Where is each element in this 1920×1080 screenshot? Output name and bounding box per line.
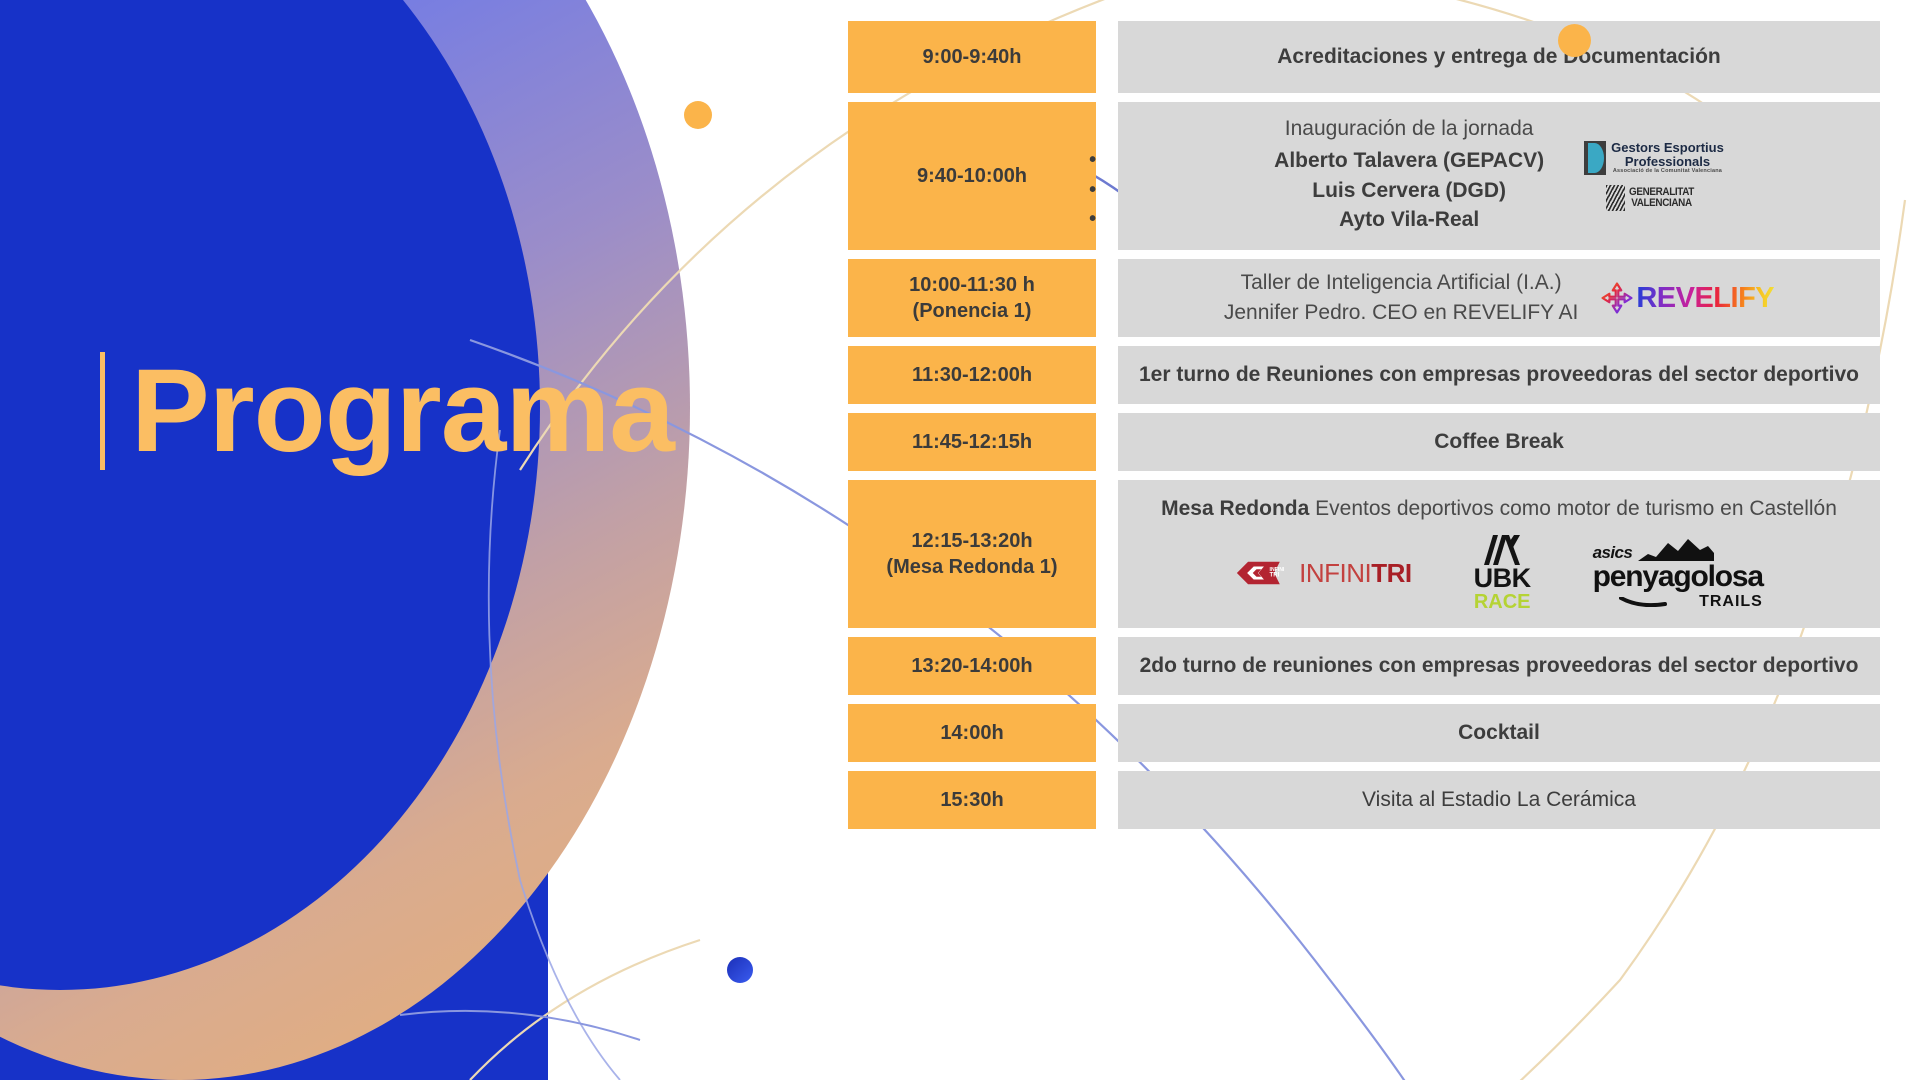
table-row[interactable]: 9:40-10:00h Inauguración de la jornada A…: [848, 102, 1880, 250]
speaker-list: Alberto Talavera (GEPACV) Luis Cervera (…: [1274, 146, 1544, 235]
gestors-esportius-professionals-logo: Gestors Esportius Professionals Associac…: [1584, 141, 1724, 175]
table-row[interactable]: 11:45-12:15h Coffee Break: [848, 413, 1880, 471]
revelify-wordmark: REVELIFY: [1636, 284, 1774, 313]
list-item: Alberto Talavera (GEPACV): [1274, 146, 1544, 176]
row-time-cell: 11:45-12:15h: [848, 413, 1096, 471]
orange-dot-upper-icon: [684, 101, 712, 129]
infinitri-mark-icon: INFINI TRI: [1235, 559, 1291, 587]
workshop-body: Taller de Inteligencia Artificial (I.A.)…: [1132, 268, 1866, 329]
blue-panel-with-ring: [0, 0, 690, 1080]
row-title: Taller de Inteligencia Artificial (I.A.): [1224, 268, 1578, 298]
sponsor-logos: INFINI TRI INFINITRI: [1235, 535, 1763, 612]
mountain-icon: [1638, 537, 1714, 561]
revelify-logo: REVELIFY: [1600, 281, 1774, 315]
row-time: 14:00h: [940, 720, 1003, 746]
generalitat-valenciana-logo: GENERALITAT VALENCIANA: [1606, 185, 1701, 211]
row-time-cell: 11:30-12:00h: [848, 346, 1096, 404]
ubk-line2: RACE: [1474, 592, 1531, 612]
infinitri-logo: INFINI TRI INFINITRI: [1235, 559, 1412, 587]
table-row[interactable]: 14:00h Cocktail: [848, 704, 1880, 762]
row-time-cell: 10:00-11:30 h (Ponencia 1): [848, 259, 1096, 337]
blue-panel: [0, 0, 548, 1080]
gradient-ring-outer: [0, 0, 690, 1080]
row-title: Visita al Estadio La Cerámica: [1362, 785, 1636, 814]
asics-penyagolosa-trails-logo: asics penyagolosa TRAILS: [1593, 537, 1763, 610]
gepacv-line2: Professionals: [1611, 155, 1724, 169]
generalitat-mark-icon: [1606, 185, 1625, 211]
infinitri-word-thin: INFINI: [1299, 558, 1371, 588]
page-title: Programa: [131, 352, 674, 470]
gepacv-line1: Gestors Esportius: [1611, 141, 1724, 155]
schedule-table: 9:00-9:40h Acreditaciones y entrega de D…: [848, 21, 1880, 838]
row-description-cell: Inauguración de la jornada Alberto Talav…: [1118, 102, 1880, 250]
row-subtitle: Jennifer Pedro. CEO en REVELIFY AI: [1224, 298, 1578, 328]
table-row[interactable]: 15:30h Visita al Estadio La Cerámica: [848, 771, 1880, 829]
inauguration-text: Inauguración de la jornada Alberto Talav…: [1274, 117, 1544, 235]
row-time: 9:00-9:40h: [923, 44, 1022, 70]
arc-cream-lowerleft-icon: [470, 940, 700, 1080]
row-title: Cocktail: [1458, 718, 1540, 747]
generalitat-line2: VALENCIANA: [1629, 198, 1694, 209]
row-time-note: (Ponencia 1): [913, 298, 1032, 324]
ubk-race-logo: UBK RACE: [1474, 535, 1531, 612]
organizer-logos: Gestors Esportius Professionals Associac…: [1584, 141, 1724, 211]
row-time-cell: 9:40-10:00h: [848, 102, 1096, 250]
penyagolosa-word: penyagolosa: [1593, 562, 1763, 592]
slide-canvas: Programa 9:00-9:40h Acreditaciones y ent…: [0, 0, 1920, 1080]
list-item: Luis Cervera (DGD): [1274, 176, 1544, 206]
table-row[interactable]: 10:00-11:30 h (Ponencia 1) Taller de Int…: [848, 259, 1880, 337]
gradient-ring-inner-mask: [0, 0, 540, 990]
ubk-mark-icon: [1480, 535, 1524, 565]
row-title: Inauguración de la jornada: [1274, 117, 1544, 141]
row-description-cell: 1er turno de Reuniones con empresas prov…: [1118, 346, 1880, 404]
roundtable-topic: Eventos deportivos como motor de turismo…: [1309, 497, 1837, 520]
row-time-cell: 13:20-14:00h: [848, 637, 1096, 695]
panel-edge-clip: [0, 0, 548, 1080]
row-title: Mesa Redonda Eventos deportivos como mot…: [1161, 497, 1837, 521]
arc-blue-lowerleft-icon: [400, 1011, 640, 1040]
svg-text:TRI: TRI: [1270, 573, 1280, 579]
row-title: Coffee Break: [1434, 427, 1564, 456]
gepacv-line3: Associació de la Comunitat Valenciana: [1611, 169, 1724, 175]
row-time-cell: 9:00-9:40h: [848, 21, 1096, 93]
roundtable-label: Mesa Redonda: [1161, 497, 1309, 520]
row-description-cell: Mesa Redonda Eventos deportivos como mot…: [1118, 480, 1880, 628]
row-description-cell: Cocktail: [1118, 704, 1880, 762]
row-time: 9:40-10:00h: [917, 163, 1027, 189]
row-description-cell: Visita al Estadio La Cerámica: [1118, 771, 1880, 829]
row-time: 13:20-14:00h: [911, 653, 1032, 679]
roundtable-body: Mesa Redonda Eventos deportivos como mot…: [1132, 497, 1866, 612]
row-time: 11:45-12:15h: [912, 429, 1032, 455]
row-time-cell: 14:00h: [848, 704, 1096, 762]
table-row[interactable]: 11:30-12:00h 1er turno de Reuniones con …: [848, 346, 1880, 404]
row-description-cell: Taller de Inteligencia Artificial (I.A.)…: [1118, 259, 1880, 337]
swoosh-icon: [1619, 597, 1693, 607]
row-time: 11:30-12:00h: [912, 362, 1032, 388]
arc-blue-panel-icon: [489, 430, 620, 1080]
page-title-group: Programa: [100, 352, 674, 470]
row-description-cell: Acreditaciones y entrega de Documentació…: [1118, 21, 1880, 93]
infinitri-word-bold: TRI: [1371, 558, 1411, 588]
ubk-line1: UBK: [1474, 565, 1531, 592]
row-title: 2do turno de reuniones con empresas prov…: [1140, 651, 1859, 680]
blue-dot-lower-icon: [727, 957, 753, 983]
inauguration-body: Inauguración de la jornada Alberto Talav…: [1132, 117, 1866, 235]
table-row[interactable]: 12:15-13:20h (Mesa Redonda 1) Mesa Redon…: [848, 480, 1880, 628]
revelify-mark-icon: [1600, 281, 1634, 315]
orange-dot-top-right-icon: [1558, 24, 1591, 57]
row-description-cell: 2do turno de reuniones con empresas prov…: [1118, 637, 1880, 695]
row-time: 10:00-11:30 h: [909, 272, 1035, 298]
list-item: Ayto Vila-Real: [1274, 205, 1544, 235]
row-time-note: (Mesa Redonda 1): [886, 554, 1057, 580]
table-row[interactable]: 9:00-9:40h Acreditaciones y entrega de D…: [848, 21, 1880, 93]
gepacv-mark-icon: [1584, 141, 1606, 175]
penyagolosa-sub: TRAILS: [1699, 594, 1763, 610]
row-time-cell: 12:15-13:20h (Mesa Redonda 1): [848, 480, 1096, 628]
title-accent-bar: [100, 352, 105, 470]
row-time: 12:15-13:20h: [911, 528, 1032, 554]
row-description-cell: Coffee Break: [1118, 413, 1880, 471]
row-title: 1er turno de Reuniones con empresas prov…: [1139, 360, 1859, 389]
row-time-cell: 15:30h: [848, 771, 1096, 829]
row-title: Acreditaciones y entrega de Documentació…: [1277, 42, 1720, 71]
table-row[interactable]: 13:20-14:00h 2do turno de reuniones con …: [848, 637, 1880, 695]
row-time: 15:30h: [940, 787, 1003, 813]
asics-brand: asics: [1593, 544, 1633, 561]
